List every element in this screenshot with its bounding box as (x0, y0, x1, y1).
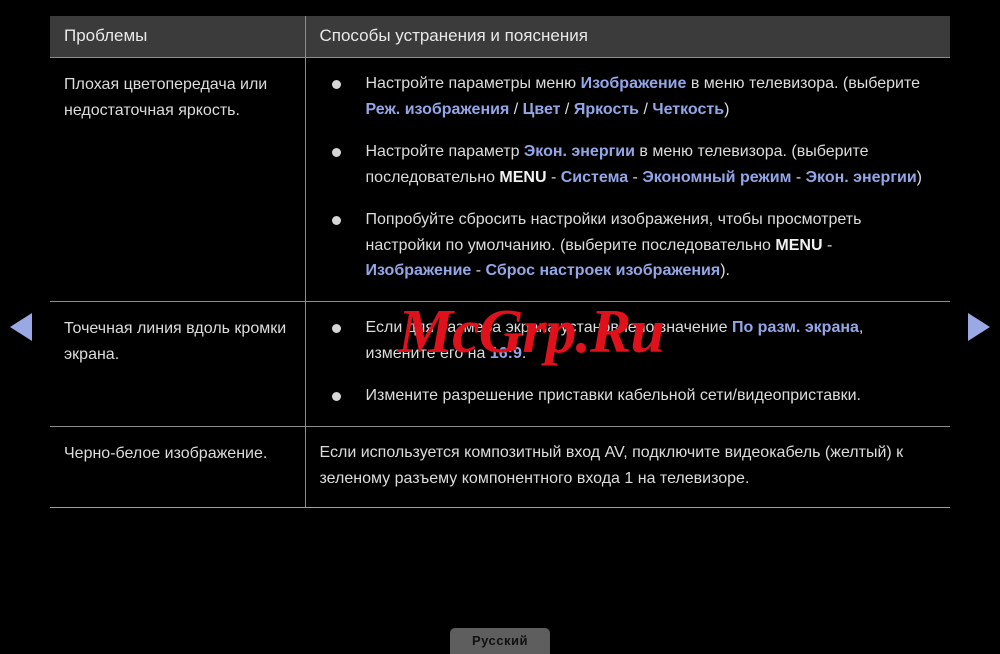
text-run: / (509, 101, 522, 118)
solution-cell: Если для размера экрана установлено знач… (305, 302, 950, 427)
table-header-row: Проблемы Способы устранения и пояснения (50, 16, 950, 58)
text-run: . (522, 345, 526, 362)
bullet-dot-icon (332, 148, 341, 157)
menu-path-token: Система (561, 169, 628, 186)
problem-cell: Черно-белое изображение. (50, 427, 305, 508)
tv-manual-screen: Проблемы Способы устранения и пояснения … (0, 0, 1000, 654)
menu-path-token: 16:9 (490, 345, 522, 362)
text-run: - (791, 169, 805, 186)
text-run: Если для размера экрана установлено знач… (366, 319, 732, 336)
table-row: Плохая цветопередача или недостаточная я… (50, 58, 950, 302)
column-header-problem: Проблемы (50, 16, 305, 58)
solution-bullet-item: Измените разрешение приставки кабельной … (320, 383, 937, 409)
bullet-dot-icon (332, 216, 341, 225)
column-header-solution: Способы устранения и пояснения (305, 16, 950, 58)
solution-bullet-item: Если для размера экрана установлено знач… (320, 315, 937, 367)
bullet-dot-icon (332, 80, 341, 89)
table-row: Точечная линия вдоль кромки экрана.Если … (50, 302, 950, 427)
text-run: Измените разрешение приставки кабельной … (366, 387, 862, 404)
menu-path-token: По разм. экрана (732, 319, 859, 336)
solution-bullet-item: Настройте параметр Экон. энергии в меню … (320, 139, 937, 191)
menu-key-token: MENU (499, 169, 546, 186)
text-run: Настройте параметры меню (366, 75, 581, 92)
next-page-arrow-icon[interactable] (968, 313, 990, 341)
solution-bullet-item: Попробуйте сбросить настройки изображени… (320, 207, 937, 285)
menu-key-token: MENU (775, 237, 822, 254)
solution-bullet-list: Настройте параметры меню Изображение в м… (320, 71, 937, 284)
text-run: - (823, 237, 833, 254)
bullet-dot-icon (332, 324, 341, 333)
previous-page-arrow-icon[interactable] (10, 313, 32, 341)
text-run: в меню телевизора. (выберите (686, 75, 920, 92)
troubleshooting-table-wrapper: Проблемы Способы устранения и пояснения … (50, 16, 950, 508)
troubleshooting-table: Проблемы Способы устранения и пояснения … (50, 16, 950, 508)
text-run: / (639, 101, 652, 118)
menu-path-token: Экон. энергии (806, 169, 917, 186)
language-chip[interactable]: Русский (450, 628, 550, 654)
menu-path-token: Экон. энергии (524, 143, 635, 160)
menu-path-token: Экономный режим (642, 169, 791, 186)
solution-paragraph: Если используется композитный вход AV, п… (320, 440, 937, 492)
text-run: Если используется композитный вход AV, п… (320, 444, 904, 487)
text-run: ) (724, 101, 729, 118)
solution-bullet-item: Настройте параметры меню Изображение в м… (320, 71, 937, 123)
text-run: ) (917, 169, 922, 186)
table-body: Плохая цветопередача или недостаточная я… (50, 58, 950, 508)
text-run: - (547, 169, 561, 186)
menu-path-token: Изображение (366, 262, 472, 279)
table-row: Черно-белое изображение.Если используетс… (50, 427, 950, 508)
text-run: - (471, 262, 485, 279)
menu-path-token: Реж. изображения (366, 101, 510, 118)
text-run: ). (720, 262, 730, 279)
text-run: / (560, 101, 573, 118)
menu-path-token: Яркость (574, 101, 639, 118)
problem-cell: Точечная линия вдоль кромки экрана. (50, 302, 305, 427)
menu-path-token: Сброс настроек изображения (486, 262, 721, 279)
solution-bullet-list: Если для размера экрана установлено знач… (320, 315, 937, 409)
menu-path-token: Цвет (523, 101, 561, 118)
table-header: Проблемы Способы устранения и пояснения (50, 16, 950, 58)
bullet-dot-icon (332, 392, 341, 401)
solution-cell: Настройте параметры меню Изображение в м… (305, 58, 950, 302)
text-run: - (628, 169, 642, 186)
problem-cell: Плохая цветопередача или недостаточная я… (50, 58, 305, 302)
menu-path-token: Изображение (581, 75, 687, 92)
text-run: Настройте параметр (366, 143, 524, 160)
menu-path-token: Четкость (652, 101, 724, 118)
solution-cell: Если используется композитный вход AV, п… (305, 427, 950, 508)
